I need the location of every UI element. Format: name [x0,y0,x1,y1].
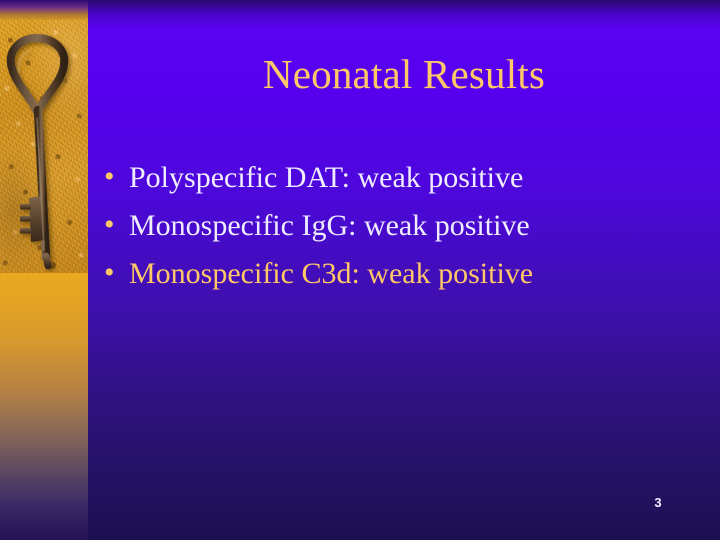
slide-title: Neonatal Results [88,51,720,97]
decorative-left-strip [0,0,88,540]
list-item: • Monospecific C3d: weak positive [104,254,664,302]
page-number: 3 [640,495,676,511]
bullet-list: • Polyspecific DAT: weak positive • Mono… [104,158,664,302]
bullet-marker-icon: • [104,157,129,197]
list-item-label: Monospecific C3d: weak positive [129,254,533,294]
key-icon [6,28,80,272]
list-item-label: Monospecific IgG: weak positive [129,206,530,246]
antique-key-photo [0,20,88,273]
list-item: • Polyspecific DAT: weak positive [104,158,664,206]
list-item-label: Polyspecific DAT: weak positive [129,158,523,198]
bullet-marker-icon: • [104,205,129,245]
list-item: • Monospecific IgG: weak positive [104,206,664,254]
bullet-marker-icon: • [104,253,129,293]
slide-canvas: Neonatal Results • Polyspecific DAT: wea… [0,0,720,540]
